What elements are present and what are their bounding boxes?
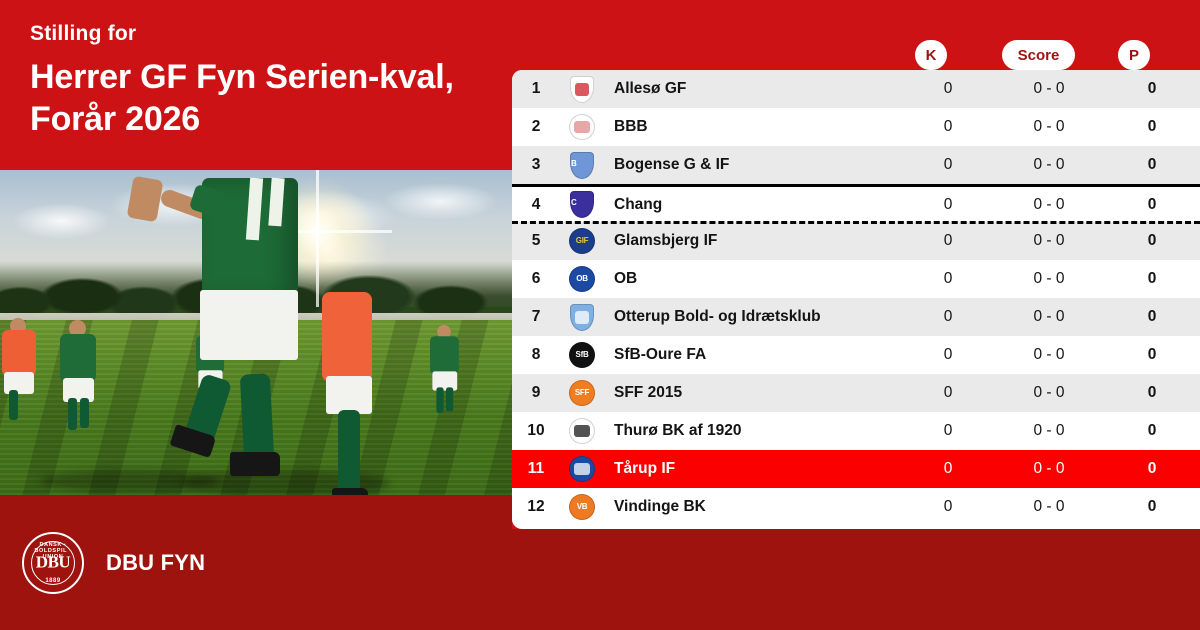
row-matches-played: 0	[902, 196, 994, 214]
row-matches-played: 0	[902, 270, 994, 288]
row-team-name: SfB-Oure FA	[604, 346, 902, 364]
brand-name: DBU FYN	[106, 550, 205, 576]
crest-bogense: B	[560, 152, 604, 179]
page-title-line1: Herrer GF Fyn Serien-kval,	[30, 57, 482, 98]
crest-badge	[570, 304, 594, 331]
promotion-divider-dashed	[512, 221, 1200, 224]
row-rank: 11	[512, 460, 560, 478]
crest-label: C	[571, 198, 576, 207]
standings-graphic: Stilling for Herrer GF Fyn Serien-kval, …	[0, 0, 1200, 630]
standings-table: 1Allesø GF00 - 002BBB00 - 003BBogense G …	[512, 70, 1200, 529]
row-rank: 12	[512, 498, 560, 516]
row-goal-score: 0 - 0	[994, 118, 1104, 136]
row-rank: 5	[512, 232, 560, 250]
column-header-k: K	[915, 40, 947, 70]
row-points: 0	[1104, 80, 1200, 98]
crest-otterup	[560, 304, 604, 331]
crest-mark	[575, 311, 589, 324]
crest-badge: SFF	[569, 380, 595, 406]
row-team-name: BBB	[604, 118, 902, 136]
row-team-name: SFF 2015	[604, 384, 902, 402]
crest-badge: GIF	[569, 228, 595, 254]
row-team-name: Bogense G & IF	[604, 156, 902, 174]
crest-label: GIF	[576, 237, 588, 245]
row-goal-score: 0 - 0	[994, 460, 1104, 478]
crest-label: SfB	[576, 351, 589, 359]
crest-sff-2015: SFF	[560, 380, 604, 406]
row-matches-played: 0	[902, 346, 994, 364]
row-goal-score: 0 - 0	[994, 422, 1104, 440]
row-rank: 7	[512, 308, 560, 326]
row-goal-score: 0 - 0	[994, 80, 1104, 98]
row-rank: 9	[512, 384, 560, 402]
row-goal-score: 0 - 0	[994, 196, 1104, 214]
row-points: 0	[1104, 232, 1200, 250]
crest-vindinge-bk: VB	[560, 494, 604, 520]
crest-badge: C	[570, 191, 594, 218]
row-matches-played: 0	[902, 118, 994, 136]
row-rank: 3	[512, 156, 560, 174]
row-rank: 1	[512, 80, 560, 98]
row-goal-score: 0 - 0	[994, 156, 1104, 174]
crest-chang: C	[560, 191, 604, 218]
row-goal-score: 0 - 0	[994, 498, 1104, 516]
table-column-headers: K Score P	[512, 40, 1200, 70]
row-rank: 4	[512, 196, 560, 214]
row-matches-played: 0	[902, 460, 994, 478]
crest-badge	[570, 76, 594, 103]
crest-mark	[574, 463, 590, 475]
crest-badge: OB	[569, 266, 595, 292]
dbu-logo-monogram: DBU	[24, 552, 82, 572]
table-row[interactable]: 9SFFSFF 201500 - 00	[512, 374, 1200, 412]
table-row[interactable]: 11Tårup IF00 - 00	[512, 450, 1200, 488]
crest-sfb-oure: SfB	[560, 342, 604, 368]
crest-mark	[574, 121, 590, 133]
table-row[interactable]: 7Otterup Bold- og Idrætsklub00 - 00	[512, 298, 1200, 336]
row-goal-score: 0 - 0	[994, 270, 1104, 288]
table-row[interactable]: 1Allesø GF00 - 00	[512, 70, 1200, 108]
row-team-name: Otterup Bold- og Idrætsklub	[604, 308, 902, 326]
row-points: 0	[1104, 422, 1200, 440]
row-team-name: Thurø BK af 1920	[604, 422, 902, 440]
row-matches-played: 0	[902, 422, 994, 440]
row-team-name: Vindinge BK	[604, 498, 902, 516]
column-header-p: P	[1118, 40, 1150, 70]
table-row[interactable]: 6OBOB00 - 00	[512, 260, 1200, 298]
row-goal-score: 0 - 0	[994, 232, 1104, 250]
table-row[interactable]: 4CChang00 - 00	[512, 184, 1200, 222]
dbu-logo-year: 1889	[24, 578, 82, 584]
crest-ob: OB	[560, 266, 604, 292]
table-row[interactable]: 5GIFGlamsbjerg IF00 - 00	[512, 222, 1200, 260]
row-rank: 6	[512, 270, 560, 288]
header-block: Stilling for Herrer GF Fyn Serien-kval, …	[0, 0, 512, 170]
row-matches-played: 0	[902, 156, 994, 174]
crest-badge: SfB	[569, 342, 595, 368]
row-points: 0	[1104, 346, 1200, 364]
row-goal-score: 0 - 0	[994, 346, 1104, 364]
dbu-logo-icon: DANSK · BOLDSPIL · UNION DBU 1889	[22, 532, 84, 594]
row-rank: 2	[512, 118, 560, 136]
crest-label: B	[571, 159, 576, 168]
row-rank: 8	[512, 346, 560, 364]
crest-tarup-if	[560, 456, 604, 482]
page-title: Herrer GF Fyn Serien-kval, Forår 2026	[30, 57, 482, 140]
row-points: 0	[1104, 384, 1200, 402]
crest-label: OB	[576, 275, 587, 283]
crest-mark	[575, 83, 589, 96]
crest-badge	[569, 114, 595, 140]
row-points: 0	[1104, 460, 1200, 478]
crest-glamsbjerg: GIF	[560, 228, 604, 254]
crest-badge: VB	[569, 494, 595, 520]
football-match-photo	[0, 170, 512, 495]
row-points: 0	[1104, 196, 1200, 214]
row-team-name: Tårup IF	[604, 460, 902, 478]
page-title-line2: Forår 2026	[30, 99, 482, 140]
row-points: 0	[1104, 156, 1200, 174]
crest-mark	[574, 425, 590, 437]
table-row[interactable]: 2BBB00 - 00	[512, 108, 1200, 146]
row-team-name: Glamsbjerg IF	[604, 232, 902, 250]
row-points: 0	[1104, 308, 1200, 326]
header-kicker: Stilling for	[30, 22, 482, 45]
row-matches-played: 0	[902, 498, 994, 516]
row-points: 0	[1104, 118, 1200, 136]
crest-bbb	[560, 114, 604, 140]
table-row[interactable]: 10Thurø BK af 192000 - 00	[512, 412, 1200, 450]
row-matches-played: 0	[902, 384, 994, 402]
row-matches-played: 0	[902, 232, 994, 250]
crest-alleso-gf	[560, 76, 604, 103]
table-row[interactable]: 12VBVindinge BK00 - 00	[512, 488, 1200, 526]
column-header-score: Score	[1002, 40, 1075, 70]
photo-player-foreground	[130, 178, 160, 220]
row-matches-played: 0	[902, 308, 994, 326]
row-goal-score: 0 - 0	[994, 308, 1104, 326]
footer: DANSK · BOLDSPIL · UNION DBU 1889 DBU FY…	[0, 495, 512, 630]
crest-thuro-bk	[560, 418, 604, 444]
row-team-name: Chang	[604, 196, 902, 214]
crest-label: SFF	[575, 389, 589, 397]
crest-badge	[569, 418, 595, 444]
row-points: 0	[1104, 498, 1200, 516]
table-row[interactable]: 3BBogense G & IF00 - 00	[512, 146, 1200, 184]
row-goal-score: 0 - 0	[994, 384, 1104, 402]
row-matches-played: 0	[902, 80, 994, 98]
table-row[interactable]: 8SfBSfB-Oure FA00 - 00	[512, 336, 1200, 374]
row-team-name: Allesø GF	[604, 80, 902, 98]
row-rank: 10	[512, 422, 560, 440]
crest-badge: B	[570, 152, 594, 179]
crest-badge	[569, 456, 595, 482]
crest-label: VB	[577, 503, 588, 511]
row-points: 0	[1104, 270, 1200, 288]
row-team-name: OB	[604, 270, 902, 288]
